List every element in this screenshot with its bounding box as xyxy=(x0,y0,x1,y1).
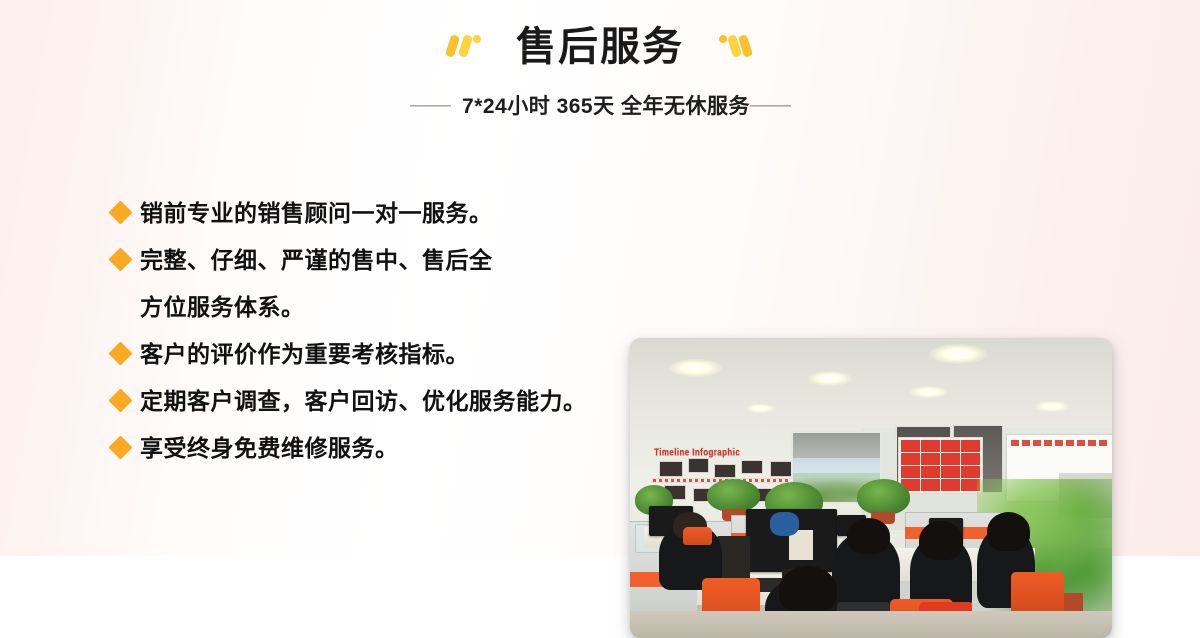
quote-mark-left-icon xyxy=(446,29,486,65)
wall-frame xyxy=(688,458,709,473)
diamond-bullet-icon xyxy=(108,388,132,412)
ceiling-light xyxy=(746,404,775,413)
office-photo: Timeline Infographic xyxy=(630,338,1112,638)
service-feature-list: 销前专业的销售顾问一对一服务。 完整、仔细、严谨的售中、售后全 方位服务体系。 … xyxy=(112,198,632,480)
ceiling xyxy=(630,338,1112,440)
office-photo-image: Timeline Infographic xyxy=(630,338,1112,638)
diamond-bullet-icon xyxy=(108,200,132,224)
list-item-label: 享受终身免费维修服务。 xyxy=(140,433,399,464)
ceiling-light xyxy=(929,344,987,364)
ceiling-light xyxy=(808,371,851,386)
list-item-label: 完整、仔细、严谨的售中、售后全 xyxy=(140,245,493,276)
wall-frame xyxy=(714,464,735,478)
red-award-board xyxy=(898,437,984,494)
subtitle-dash-right: —— xyxy=(750,93,790,117)
list-item: 定期客户调查，客户回访、优化服务能力。 xyxy=(112,386,632,417)
floor xyxy=(630,611,1112,638)
person-hair xyxy=(779,566,837,614)
list-item-label: 方位服务体系。 xyxy=(140,292,305,323)
diamond-bullet-placeholder xyxy=(108,294,132,318)
diamond-bullet-icon xyxy=(108,341,132,365)
person-hair xyxy=(847,518,890,554)
content-section: 销前专业的销售顾问一对一服务。 完整、仔细、严谨的售中、售后全 方位服务体系。 … xyxy=(0,150,1200,556)
ceiling-light xyxy=(669,359,722,377)
desk-plant xyxy=(857,479,910,515)
person-hair xyxy=(987,512,1030,551)
person-seated xyxy=(770,512,799,536)
wall-frame xyxy=(770,461,794,477)
subtitle-text: 7*24小时 365天 全年无休服务 xyxy=(462,90,750,120)
page-title: 售后服务 xyxy=(516,23,684,71)
quote-mark-right-icon xyxy=(714,29,754,65)
whiteboard-banner xyxy=(1011,440,1109,445)
wall-frame xyxy=(659,461,683,477)
list-item-label: 定期客户调查，客户回访、优化服务能力。 xyxy=(140,386,587,417)
window-blind xyxy=(793,433,880,458)
list-item: 完整、仔细、严谨的售中、售后全 xyxy=(112,245,632,276)
subtitle-row: —— 7*24小时 365天 全年无休服务 —— xyxy=(0,90,1200,120)
list-item-label: 客户的评价作为重要考核指标。 xyxy=(140,339,469,370)
list-item-continuation: 方位服务体系。 xyxy=(112,292,632,323)
office-chair xyxy=(683,527,712,545)
ceiling-light xyxy=(1035,401,1069,412)
ceiling-light xyxy=(910,386,949,398)
person-hair xyxy=(919,521,962,560)
list-item-label: 销前专业的销售顾问一对一服务。 xyxy=(140,198,493,229)
list-item: 销前专业的销售顾问一对一服务。 xyxy=(112,198,632,229)
promo-banner: 售后服务 —— 7*24小时 365天 全年无休服务 —— 销前专业的销售顾问一… xyxy=(0,0,1200,556)
diamond-bullet-icon xyxy=(108,247,132,271)
desk-organizer xyxy=(717,536,751,584)
subtitle-dash-left: —— xyxy=(410,93,450,117)
header-section: 售后服务 —— 7*24小时 365天 全年无休服务 —— xyxy=(0,0,1200,140)
wall-text: Timeline Infographic xyxy=(654,446,740,457)
list-item: 客户的评价作为重要考核指标。 xyxy=(112,339,632,370)
title-row: 售后服务 xyxy=(0,18,1200,76)
diamond-bullet-icon xyxy=(108,435,132,459)
list-item: 享受终身免费维修服务。 xyxy=(112,433,632,464)
desk-plant xyxy=(707,479,760,512)
wall-frame xyxy=(741,460,763,475)
